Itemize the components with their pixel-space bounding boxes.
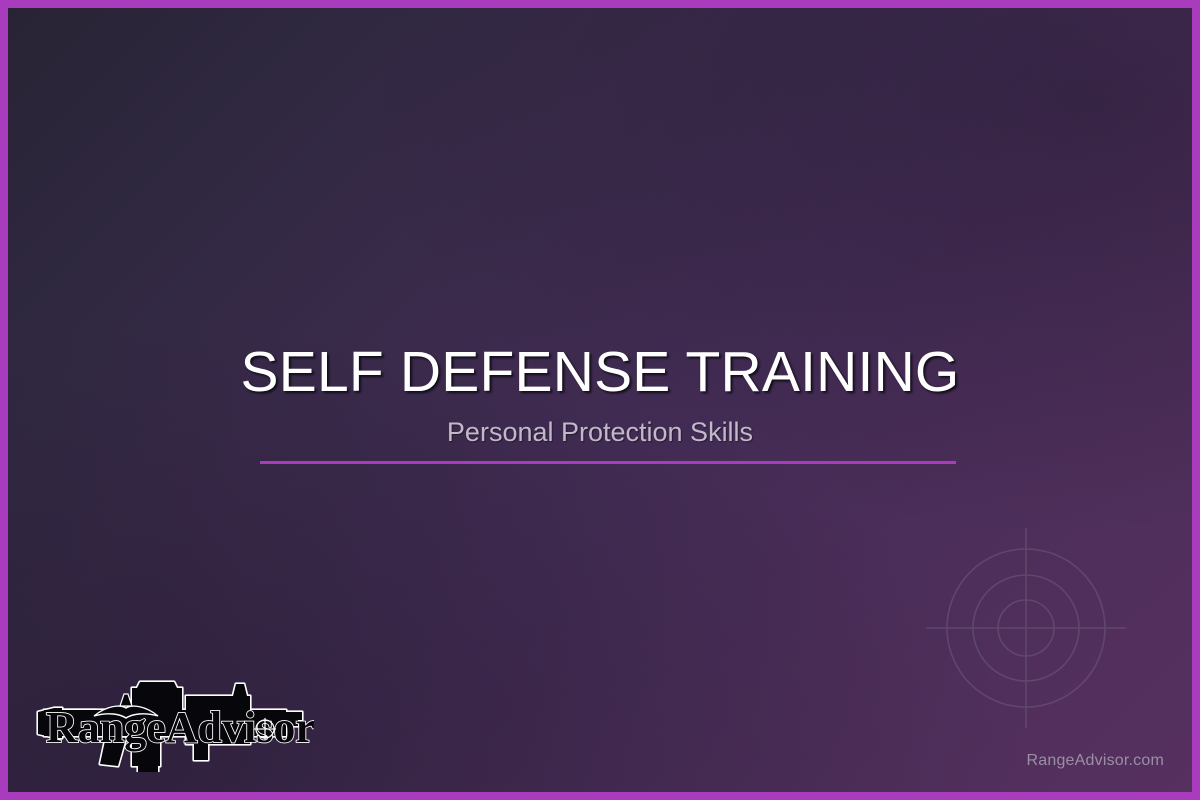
presentation-slide: SELF DEFENSE TRAINING Personal Protectio… — [0, 0, 1200, 800]
accent-divider — [260, 461, 956, 464]
crosshair-target-icon — [918, 520, 1134, 736]
title-block: SELF DEFENSE TRAINING Personal Protectio… — [8, 342, 1192, 448]
page-title: SELF DEFENSE TRAINING — [8, 342, 1192, 402]
slide-canvas: SELF DEFENSE TRAINING Personal Protectio… — [8, 8, 1192, 792]
watermark-text: RangeAdvisor.com — [1027, 752, 1165, 770]
brand-logo: RangeAdvisor — [36, 680, 314, 772]
page-subtitle: Personal Protection Skills — [8, 418, 1192, 448]
